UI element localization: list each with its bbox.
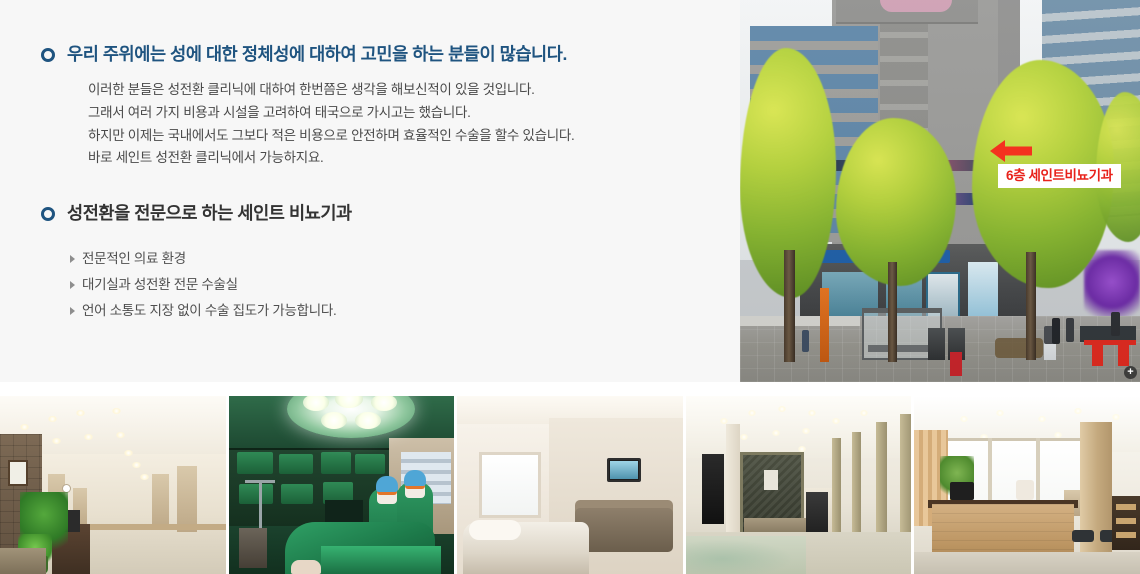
top-section: 우리 주위에는 성에 대한 정체성에 대하여 고민을 하는 분들이 많습니다. … bbox=[0, 0, 1140, 382]
folded-linen bbox=[281, 484, 313, 504]
pedestrian bbox=[802, 330, 809, 352]
ceiling-light bbox=[772, 430, 780, 436]
carpet bbox=[686, 536, 806, 574]
column bbox=[832, 438, 841, 532]
feature-label: 언어 소통도 지장 없이 수술 집도가 가능합니다. bbox=[82, 298, 336, 324]
info-block-specialty: 성전환을 전문으로 하는 세인트 비뇨기과 전문적인 의료 환경 대기실과 성전… bbox=[0, 203, 700, 324]
brochure-slot bbox=[1116, 504, 1136, 510]
block-2-heading: 성전환을 전문으로 하는 세인트 비뇨기과 bbox=[67, 203, 352, 224]
paragraph-line: 하지만 이제는 국내에서도 그보다 적은 비용으로 안전하며 효율적인 수술을 … bbox=[88, 125, 700, 148]
thumb-reception-desk[interactable] bbox=[914, 396, 1140, 574]
folded-linen bbox=[321, 452, 351, 474]
ceiling-light bbox=[124, 450, 133, 456]
feature-label: 대기실과 성전환 전문 수술실 bbox=[82, 272, 238, 298]
column bbox=[876, 422, 887, 534]
desk-monitor bbox=[950, 482, 974, 500]
tree-trunk bbox=[784, 250, 795, 362]
red-chair bbox=[1118, 340, 1129, 366]
curb bbox=[740, 316, 860, 326]
patient bbox=[291, 560, 321, 574]
trash-bin bbox=[928, 328, 945, 360]
clinic-intro-page: 우리 주위에는 성에 대한 정체성에 대하여 고민을 하는 분들이 많습니다. … bbox=[0, 0, 1140, 574]
ceiling-light bbox=[808, 410, 816, 416]
column bbox=[852, 432, 861, 532]
ring-bullet-icon bbox=[41, 207, 55, 221]
brochure-slot bbox=[1116, 518, 1136, 524]
wall-rail bbox=[88, 524, 226, 530]
lamp-bulb bbox=[371, 396, 397, 411]
info-panel: 우리 주위에는 성에 대한 정체성에 대하여 고민을 하는 분들이 많습니다. … bbox=[0, 0, 740, 382]
sofa bbox=[575, 508, 673, 552]
lamp-bulb bbox=[303, 396, 329, 411]
ceiling-light bbox=[132, 462, 141, 468]
ceiling-light bbox=[832, 418, 840, 424]
floor bbox=[914, 552, 1140, 574]
red-post-box bbox=[950, 352, 962, 376]
photo-scene bbox=[740, 0, 1140, 382]
window bbox=[479, 452, 541, 518]
thumb-operating-room[interactable] bbox=[229, 396, 455, 574]
ceiling-light bbox=[140, 474, 149, 480]
red-chair bbox=[1092, 340, 1103, 366]
door bbox=[177, 466, 197, 532]
paragraph-line: 이러한 분들은 성전환 클리닉에 대하여 한번쯤은 생각을 해보신적이 있을 것… bbox=[88, 79, 700, 102]
list-item: 대기실과 성전환 전문 수술실 bbox=[70, 272, 700, 298]
pillow bbox=[469, 520, 521, 540]
ceiling-light bbox=[52, 438, 61, 444]
bank-poster-panel bbox=[968, 262, 998, 324]
paragraph-line: 바로 세인트 성전환 클리닉에서 가능하지요. bbox=[88, 147, 700, 170]
block-2-feature-list: 전문적인 의료 환경 대기실과 성전환 전문 수술실 언어 소통도 지장 없이 … bbox=[0, 246, 700, 324]
ceiling-light bbox=[748, 410, 756, 416]
list-item: 언어 소통도 지장 없이 수술 집도가 가능합니다. bbox=[70, 298, 700, 324]
ceiling-light bbox=[112, 408, 121, 414]
folded-linen bbox=[355, 454, 385, 474]
surgeon-cap bbox=[404, 470, 426, 486]
pedestrian bbox=[1066, 318, 1074, 342]
framed-picture bbox=[8, 460, 28, 486]
ceiling-light bbox=[802, 428, 810, 434]
thumb-hallway-interior[interactable] bbox=[686, 396, 912, 574]
folded-linen bbox=[239, 484, 273, 504]
column bbox=[900, 414, 912, 534]
ceiling-light bbox=[740, 434, 748, 440]
surgical-drape bbox=[321, 546, 441, 574]
lamp-bulb bbox=[355, 412, 381, 429]
column bbox=[726, 424, 740, 532]
thumb-corridor-plants[interactable] bbox=[0, 396, 226, 574]
tree-foliage bbox=[836, 118, 956, 286]
ceiling-light bbox=[20, 424, 29, 430]
waiting-bench bbox=[0, 548, 46, 574]
tree-trunk bbox=[888, 262, 897, 362]
facility-thumbnail-strip bbox=[0, 396, 1140, 574]
folded-linen bbox=[237, 452, 273, 474]
building-floor-callout: 6층 세인트비뇨기과 bbox=[998, 164, 1121, 188]
paragraph-line: 그래서 여러 가지 비용과 시설을 고려하여 태국으로 가시고는 했습니다. bbox=[88, 102, 700, 125]
heading-row-2: 성전환을 전문으로 하는 세인트 비뇨기과 bbox=[0, 203, 700, 224]
zoom-in-plus-icon[interactable]: + bbox=[1124, 366, 1137, 379]
clinic-building-exterior-photo[interactable]: 6층 세인트비뇨기과 + bbox=[740, 0, 1140, 382]
block-1-paragraph-list: 이러한 분들은 성전환 클리닉에 대하여 한번쯤은 생각을 해보신적이 있을 것… bbox=[0, 79, 700, 170]
ceiling-light bbox=[860, 410, 868, 416]
folded-linen bbox=[279, 454, 313, 474]
left-arrow-icon bbox=[988, 138, 1034, 164]
surgeon-cap bbox=[376, 476, 398, 492]
lamp-bulb bbox=[321, 412, 347, 429]
list-item: 전문적인 의료 환경 bbox=[70, 246, 700, 272]
ceiling-light bbox=[116, 432, 125, 438]
window-mullion bbox=[988, 438, 992, 508]
triangle-bullet-icon bbox=[70, 255, 75, 263]
pedestrian bbox=[1052, 318, 1060, 344]
window-mullion bbox=[1036, 438, 1040, 508]
brochure-slot bbox=[1116, 532, 1136, 538]
tree-trunk bbox=[1026, 252, 1036, 360]
triangle-bullet-icon bbox=[70, 307, 75, 315]
orange-street-pole bbox=[820, 288, 829, 362]
thumb-patient-room[interactable] bbox=[457, 396, 683, 574]
pedestrian bbox=[1111, 312, 1120, 336]
ceiling-light bbox=[778, 406, 786, 412]
feature-label: 전문적인 의료 환경 bbox=[82, 246, 186, 272]
ceiling-light bbox=[84, 434, 93, 440]
ring-bullet-icon bbox=[41, 48, 55, 62]
triangle-bullet-icon bbox=[70, 281, 75, 289]
counter-item bbox=[1016, 480, 1034, 500]
block-1-heading: 우리 주위에는 성에 대한 정체성에 대하여 고민을 하는 분들이 많습니다. bbox=[67, 44, 567, 65]
tv-screen bbox=[610, 461, 638, 479]
rooftop-signage bbox=[880, 0, 952, 12]
ceiling-light bbox=[48, 416, 57, 422]
bus-bench bbox=[868, 345, 930, 352]
heading-row-1: 우리 주위에는 성에 대한 정체성에 대하여 고민을 하는 분들이 많습니다. bbox=[0, 44, 700, 65]
door bbox=[152, 474, 169, 530]
anesthesia-machine bbox=[239, 528, 267, 568]
ceiling-light bbox=[76, 410, 85, 416]
waiting-stool bbox=[1072, 530, 1094, 542]
info-block-identity: 우리 주위에는 성에 대한 정체성에 대하여 고민을 하는 분들이 많습니다. … bbox=[0, 44, 700, 170]
framed-picture bbox=[764, 470, 778, 490]
door bbox=[702, 454, 724, 524]
